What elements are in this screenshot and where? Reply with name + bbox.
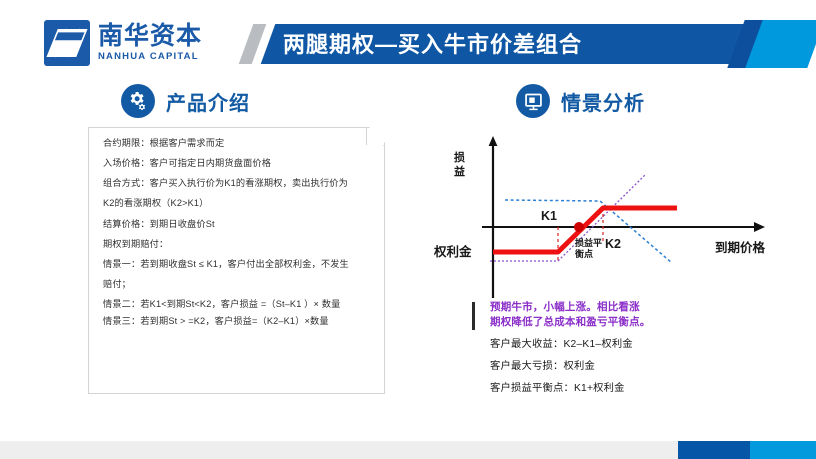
presentation-board-icon	[516, 84, 550, 118]
note-highlight-line-1: 预期牛市，小幅上涨。相比看涨	[490, 300, 816, 315]
brand-logo-text: 南华资本 NANHUA CAPITAL	[98, 24, 202, 62]
strike-k1-label: K1	[541, 209, 557, 223]
note-max-loss: 客户最大亏损：权利金	[490, 360, 816, 374]
breakeven-label-line1: 损益平	[575, 237, 602, 248]
brand-name-cn: 南华资本	[98, 24, 202, 49]
series-bought-call-k1	[490, 175, 645, 261]
card-line-3: 组合方式：客户买入执行价为K1的看涨期权，卖出执行价为	[103, 179, 374, 189]
card-line-1: 合约期限：根据客户需求而定	[103, 139, 374, 149]
chart-x-axis-arrow	[754, 222, 765, 232]
section-heading-scenario: 情景分析	[516, 84, 645, 118]
chart-y-axis-arrow	[489, 136, 498, 146]
section-heading-product: 产品介绍	[121, 84, 250, 118]
note-content: 预期牛市，小幅上涨。相比看涨 期权降低了总成本和盈亏平衡点。 客户最大收益：K2…	[490, 300, 816, 396]
note-max-profit: 客户最大收益：K2–K1–权利金	[490, 338, 816, 352]
payoff-chart: 损 益 权利金 K1 K2 损益平 衡点 到期价格	[432, 130, 816, 298]
card-line-9: 情景二：若K1<到期St<K2，客户损益 =（St–K1 ）× 数量	[103, 300, 374, 310]
breakeven-label-line2: 衡点	[575, 248, 593, 259]
note-breakeven: 客户损益平衡点：K1+权利金	[490, 382, 816, 396]
card-line-2: 入场价格：客户可指定日内期货盘面价格	[103, 159, 374, 169]
section-title-scenario: 情景分析	[561, 87, 645, 116]
strike-k2-label: K2	[605, 237, 621, 251]
chart-ylabel-char1: 损	[454, 150, 465, 164]
slide-root: 南华资本 NANHUA CAPITAL 两腿期权—买入牛市价差组合 产品介绍 合…	[0, 0, 816, 459]
payoff-chart-svg: 损 益 权利金 K1 K2 损益平 衡点 到期价格	[432, 130, 816, 298]
nanhua-logo-icon	[44, 20, 90, 66]
brand-name-en: NANHUA CAPITAL	[98, 52, 202, 62]
card-line-7: 情景一：若到期收盘St ≤ K1，客户付出全部权利金，不发生	[103, 260, 374, 270]
card-line-8: 赔付；	[103, 280, 374, 290]
brand-logo: 南华资本 NANHUA CAPITAL	[44, 20, 202, 66]
breakeven-marker	[574, 222, 584, 232]
card-line-6: 期权到期赔付：	[103, 240, 374, 250]
scenario-note: 预期牛市，小幅上涨。相比看涨 期权降低了总成本和盈亏平衡点。 客户最大收益：K2…	[472, 300, 816, 396]
card-line-4: K2的看涨期权（K2>K1）	[103, 199, 374, 209]
card-line-10: 情景三：若到期St > =K2，客户损益=（K2–K1）×数量	[103, 317, 374, 327]
section-title-product: 产品介绍	[166, 87, 250, 116]
chart-ylabel-char2: 益	[454, 164, 465, 178]
note-highlight-line-2: 期权降低了总成本和盈亏平衡点。	[490, 315, 816, 330]
note-accent-bar	[472, 302, 475, 330]
footer-accent-dark	[678, 441, 750, 459]
chart-xlabel: 到期价格	[715, 240, 766, 255]
gear-icon	[121, 84, 155, 118]
card-line-5: 结算价格：到期日收盘价St	[103, 220, 374, 230]
footer-accent-light	[750, 441, 816, 459]
product-info-card: 合约期限：根据客户需求而定 入场价格：客户可指定日内期货盘面价格 组合方式：客户…	[88, 127, 385, 394]
product-info-text: 合约期限：根据客户需求而定 入场价格：客户可指定日内期货盘面价格 组合方式：客户…	[103, 139, 374, 327]
page-title: 两腿期权—买入牛市价差组合	[283, 31, 763, 59]
premium-label: 权利金	[433, 244, 472, 259]
